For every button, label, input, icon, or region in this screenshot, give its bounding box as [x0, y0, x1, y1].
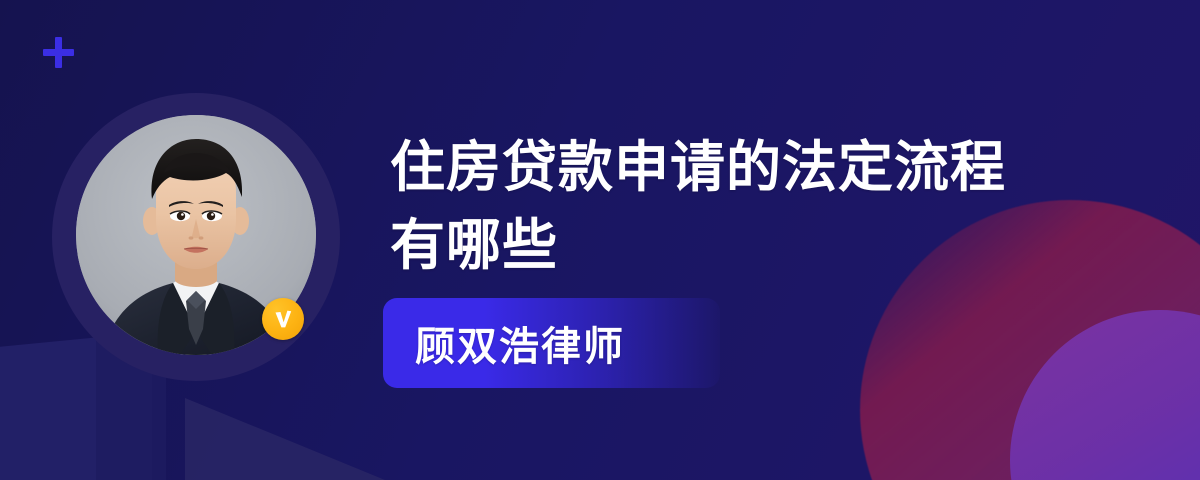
lawyer-name-badge[interactable]: 顾双浩律师: [383, 298, 720, 388]
lawyer-name-label: 顾双浩律师: [415, 314, 625, 372]
headline-block: 住房贷款申请的法定流程 有哪些: [390, 128, 1090, 284]
verified-badge-icon: [262, 298, 304, 340]
plus-icon: [43, 37, 74, 68]
decor-polygon-triangle: [185, 398, 385, 480]
lawyer-qa-banner: 住房贷款申请的法定流程 有哪些 顾双浩律师: [0, 0, 1200, 480]
page-title: 住房贷款申请的法定流程 有哪些: [390, 128, 1090, 284]
decor-arc-inner: [1010, 310, 1200, 480]
avatar: [52, 93, 340, 381]
